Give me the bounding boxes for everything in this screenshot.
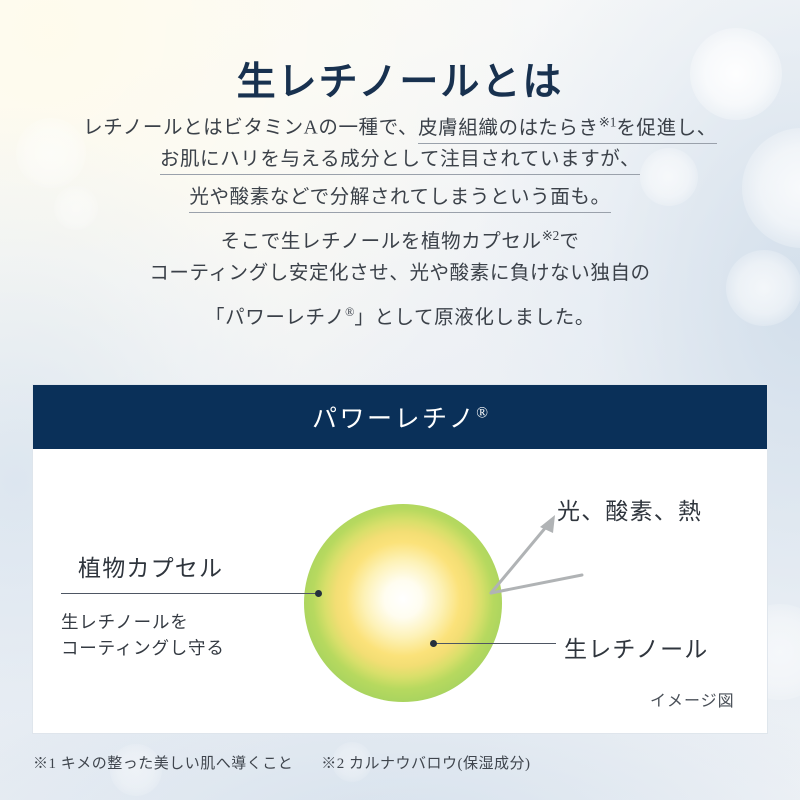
lead-text-underlined: お肌にハリを与える成分として注目されていますが、 (160, 149, 640, 175)
capsule-sphere-graphic (304, 504, 502, 702)
power-retino-card: パワーレチノ® 植物カプセル 生レチノールをコーティングし守る 生レチノール 光… (33, 385, 767, 733)
leader-dot-capsule (315, 590, 322, 597)
footnote-marker: ※1 (33, 756, 57, 772)
lead-text: コーティングし安定化させ、光や酸素に負けない独自の (149, 263, 650, 284)
leader-line-capsule (61, 593, 319, 594)
card-header-title-text: パワーレチノ (312, 406, 476, 433)
footnote-marker: ※2 (542, 228, 560, 243)
label-raw-retinol: 生レチノール (564, 630, 709, 664)
label-light-oxygen-heat: 光、酸素、熱 (557, 492, 702, 526)
leader-line-retinol (434, 643, 556, 644)
footnote-text: キメの整った美しい肌へ導くこと (61, 756, 294, 772)
lead-line-3: 光や酸素などで分解されてしまうという面も。 (0, 182, 800, 220)
registered-mark: ® (476, 405, 488, 422)
registered-mark: ® (345, 305, 354, 319)
leader-dot-retinol (430, 640, 437, 647)
footnote-item: ※2 カルナウバロウ(保湿成分) (321, 752, 530, 773)
lead-text: 「パワーレチノ (205, 308, 345, 329)
card-header: パワーレチノ® (33, 385, 767, 449)
footnote-marker: ※1 (599, 114, 617, 129)
lead-text-underlined: 光や酸素などで分解されてしまうという面も。 (189, 187, 610, 213)
lead-line-2: お肌にハリを与える成分として注目されていますが、 (0, 144, 800, 182)
lead-text: 皮膚組織のはたらき (418, 118, 599, 139)
label-plant-capsule-description: 生レチノールをコーティングし守る (61, 609, 225, 662)
card-header-title: パワーレチノ® (312, 399, 488, 435)
footnote-text: カルナウバロウ(保湿成分) (349, 756, 531, 772)
lead-text: を促進し、 (616, 118, 717, 139)
footnote-marker: ※2 (321, 756, 345, 772)
infographic-stage: 生レチノールとは レチノールとはビタミンAの一種で、皮膚組織のはたらき※1を促進… (0, 0, 800, 800)
label-plant-capsule: 植物カプセル (78, 549, 223, 583)
lead-line-6: 「パワーレチノ®」として原液化しました。 (0, 296, 800, 334)
description-line-2: コーティングし守る (61, 638, 225, 658)
diagram-caption: イメージ図 (650, 687, 735, 711)
lead-text: 」として原液化しました。 (354, 308, 595, 329)
description-line-1: 生レチノールを (61, 612, 189, 632)
lead-line-5: コーティングし安定化させ、光や酸素に負けない独自の (0, 258, 800, 296)
footnote-item: ※1 キメの整った美しい肌へ導くこと (33, 752, 293, 773)
lead-line-4: そこで生レチノールを植物カプセル※2で (0, 220, 800, 258)
lead-text: で (559, 232, 579, 253)
page-title: 生レチノールとは (0, 60, 800, 107)
footnotes: ※1 キメの整った美しい肌へ導くこと※2 カルナウバロウ(保湿成分) (33, 752, 531, 773)
lead-text: そこで生レチノールを植物カプセル (221, 232, 542, 253)
lead-line-1: レチノールとはビタミンAの一種で、皮膚組織のはたらき※1を促進し、 (0, 106, 800, 144)
lead-text-underlined: 皮膚組織のはたらき※1を促進し、 (418, 118, 717, 144)
lead-text: レチノールとはビタミンAの一種で、 (83, 118, 418, 139)
card-body: 植物カプセル 生レチノールをコーティングし守る 生レチノール 光、酸素、熱 イメ… (33, 449, 767, 733)
lead-paragraph: レチノールとはビタミンAの一種で、皮膚組織のはたらき※1を促進し、 お肌にハリを… (0, 106, 800, 334)
